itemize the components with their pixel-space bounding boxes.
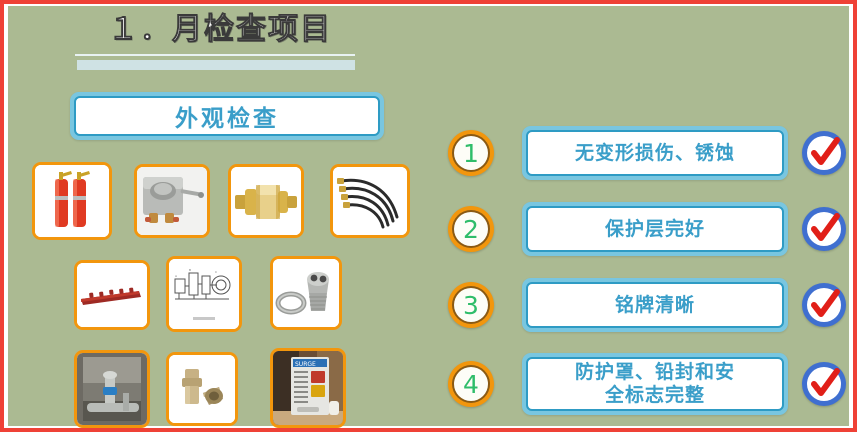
checklist-row-1[interactable]: 1 无变形损伤、锈蚀 bbox=[448, 124, 857, 182]
thumbnail-image bbox=[35, 165, 109, 237]
item-label-box-2[interactable]: 保护层完好 bbox=[522, 202, 788, 256]
thumbnail-image bbox=[137, 167, 207, 235]
checklist: 1 无变形损伤、锈蚀 2 保护层完好 bbox=[448, 116, 857, 428]
thumbnail-flexible-hose-bundle[interactable] bbox=[330, 164, 410, 238]
item-number-badge-3: 3 bbox=[448, 282, 494, 328]
item-label-box-4[interactable]: 防护罩、铅封和安 全标志完整 bbox=[522, 353, 788, 415]
fire-extinguisher-cylinders-icon bbox=[35, 165, 109, 237]
section-heading-label: 外观检查 bbox=[74, 96, 380, 136]
item-number-4: 4 bbox=[463, 372, 479, 397]
status-check-badge-3[interactable] bbox=[802, 283, 846, 327]
status-check-badge-4[interactable] bbox=[802, 362, 846, 406]
thumbnail-brass-fittings-pair[interactable] bbox=[166, 352, 238, 426]
checklist-row-4[interactable]: 4 防护罩、铅封和安 全标志完整 bbox=[448, 352, 857, 416]
thumbnail-image: SURGE bbox=[273, 351, 343, 425]
slide-frame: １．月检查项目 外观检查 bbox=[0, 0, 857, 432]
svg-text:C: C bbox=[215, 270, 217, 274]
system-schematic-drawing-icon: ABC bbox=[169, 259, 239, 329]
thumbnail-grid: ABC bbox=[32, 162, 432, 430]
thumbnail-image bbox=[231, 167, 301, 235]
thumbnail-system-schematic-drawing[interactable]: ABC bbox=[166, 256, 242, 332]
check-icon bbox=[802, 283, 846, 327]
title-underline-bar bbox=[77, 60, 355, 70]
thumbnail-image bbox=[273, 259, 339, 327]
section-heading-box: 外观检查 bbox=[70, 92, 384, 140]
thumbnail-red-manifold-pipe[interactable] bbox=[74, 260, 150, 330]
check-icon bbox=[802, 362, 846, 406]
checklist-row-2[interactable]: 2 保护层完好 bbox=[448, 200, 857, 258]
item-number-2: 2 bbox=[463, 217, 479, 242]
thumbnail-fire-extinguisher-cylinders[interactable] bbox=[32, 162, 112, 240]
item-number-1: 1 bbox=[463, 141, 479, 166]
item-label-3: 铭牌清晰 bbox=[526, 282, 784, 328]
status-check-badge-1[interactable] bbox=[802, 131, 846, 175]
installed-valve-photo-icon bbox=[77, 353, 147, 425]
brass-fittings-pair-icon bbox=[169, 355, 235, 423]
svg-text:B: B bbox=[189, 268, 191, 272]
thumbnail-image bbox=[77, 263, 147, 327]
item-label-box-1[interactable]: 无变形损伤、锈蚀 bbox=[522, 126, 788, 180]
checklist-row-3[interactable]: 3 铭牌清晰 bbox=[448, 276, 857, 334]
thumbnail-control-panel-cabinet[interactable]: SURGE bbox=[270, 348, 346, 428]
item-label-4: 防护罩、铅封和安 全标志完整 bbox=[526, 357, 784, 411]
item-number-badge-1: 1 bbox=[448, 130, 494, 176]
flexible-hose-bundle-icon bbox=[333, 167, 407, 235]
thumbnail-installed-valve-photo[interactable] bbox=[74, 350, 150, 428]
title-rule bbox=[75, 54, 355, 56]
status-check-badge-2[interactable] bbox=[802, 207, 846, 251]
item-label-2: 保护层完好 bbox=[526, 206, 784, 252]
check-icon bbox=[802, 207, 846, 251]
title-block: １．月检查项目 bbox=[70, 10, 370, 80]
item-number-3: 3 bbox=[463, 293, 479, 318]
thumbnail-image bbox=[77, 353, 147, 425]
thumbnail-image: ABC bbox=[169, 259, 239, 329]
check-icon bbox=[802, 131, 846, 175]
thumbnail-image bbox=[169, 355, 235, 423]
item-label-1: 无变形损伤、锈蚀 bbox=[526, 130, 784, 176]
svg-text:SURGE: SURGE bbox=[295, 361, 316, 368]
item-label-box-3[interactable]: 铭牌清晰 bbox=[522, 278, 788, 332]
red-manifold-pipe-icon bbox=[77, 263, 147, 327]
valve-assembly-bracket-icon bbox=[137, 167, 207, 235]
steel-nozzle-and-ring-icon bbox=[273, 259, 339, 327]
page-title: １．月检查项目 bbox=[70, 10, 370, 50]
control-panel-cabinet-icon: SURGE bbox=[273, 351, 343, 425]
thumbnail-valve-assembly-bracket[interactable] bbox=[134, 164, 210, 238]
thumbnail-brass-check-valve[interactable] bbox=[228, 164, 304, 238]
thumbnail-steel-nozzle-and-ring[interactable] bbox=[270, 256, 342, 330]
item-number-badge-2: 2 bbox=[448, 206, 494, 252]
brass-check-valve-icon bbox=[231, 167, 301, 235]
thumbnail-image bbox=[333, 167, 407, 235]
slide-canvas: １．月检查项目 外观检查 bbox=[8, 6, 849, 426]
item-number-badge-4: 4 bbox=[448, 361, 494, 407]
